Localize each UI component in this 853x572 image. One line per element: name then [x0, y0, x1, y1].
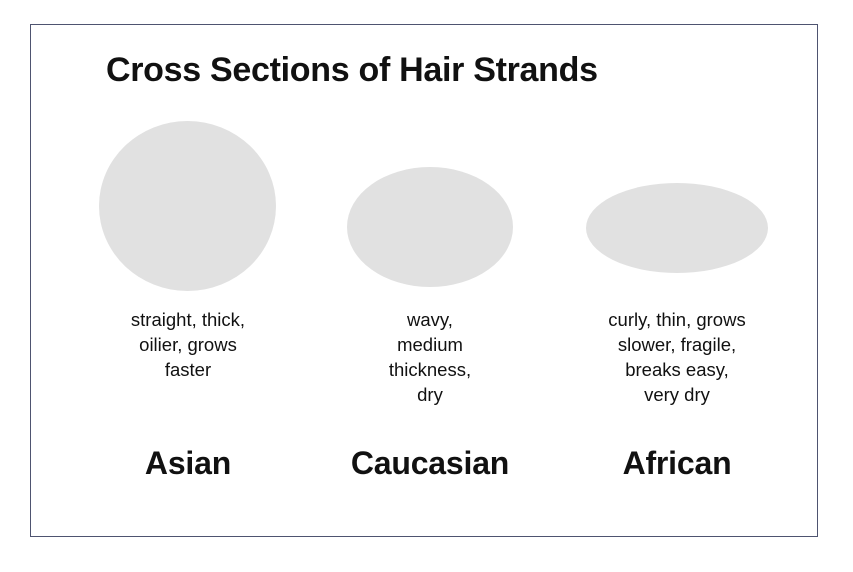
description-line: faster — [67, 357, 309, 382]
description-line: dry — [313, 382, 547, 407]
description-line: wavy, — [313, 307, 547, 332]
description-line: very dry — [551, 382, 803, 407]
columns-container: straight, thick, oilier, grows faster As… — [31, 25, 819, 538]
hair-cross-section-ellipse-caucasian — [347, 167, 513, 287]
description-asian: straight, thick, oilier, grows faster — [67, 307, 309, 382]
hair-cross-section-ellipse-african — [586, 183, 768, 273]
group-label-african: African — [551, 445, 803, 482]
column-african: curly, thin, grows slower, fragile, brea… — [551, 25, 803, 538]
infographic-canvas: Cross Sections of Hair Strands straight,… — [0, 0, 853, 572]
description-line: medium — [313, 332, 547, 357]
column-asian: straight, thick, oilier, grows faster As… — [67, 25, 309, 538]
description-african: curly, thin, grows slower, fragile, brea… — [551, 307, 803, 407]
group-label-caucasian: Caucasian — [313, 445, 547, 482]
hair-cross-section-ellipse-asian — [99, 121, 276, 291]
description-line: oilier, grows — [67, 332, 309, 357]
border-frame: Cross Sections of Hair Strands straight,… — [30, 24, 818, 537]
shape-slot-african — [551, 97, 803, 297]
description-line: thickness, — [313, 357, 547, 382]
description-line: straight, thick, — [67, 307, 309, 332]
shape-slot-asian — [67, 97, 309, 297]
column-caucasian: wavy, medium thickness, dry Caucasian — [313, 25, 547, 538]
group-label-asian: Asian — [67, 445, 309, 482]
description-line: breaks easy, — [551, 357, 803, 382]
shape-slot-caucasian — [313, 97, 547, 297]
description-line: curly, thin, grows — [551, 307, 803, 332]
description-line: slower, fragile, — [551, 332, 803, 357]
description-caucasian: wavy, medium thickness, dry — [313, 307, 547, 407]
